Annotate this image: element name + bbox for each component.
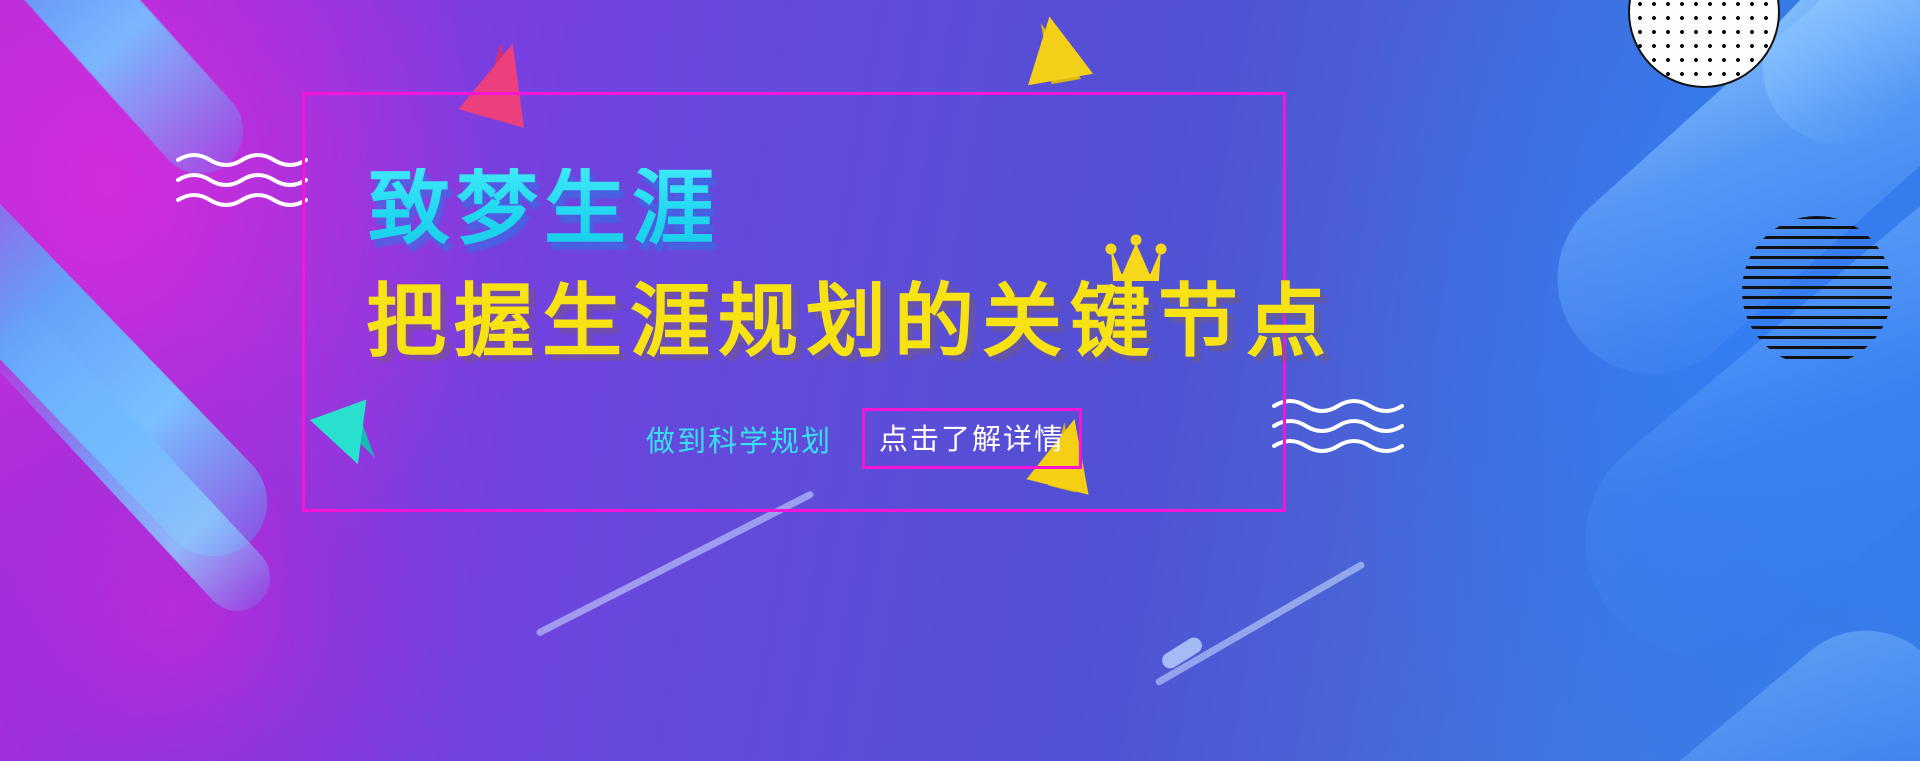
banner-content: 致梦生涯 致梦生涯 把握生涯规划的关键节点 把握生涯规划的关键节点 做到科学规划… xyxy=(0,0,1920,761)
sub-line: 做到科学规划 点击了解详情 xyxy=(646,408,1082,469)
cta-button[interactable]: 点击了解详情 xyxy=(862,408,1082,469)
crown-icon xyxy=(1105,234,1167,282)
main-title: 致梦生涯 xyxy=(368,168,720,250)
headline: 把握生涯规划的关键节点 xyxy=(366,282,1334,362)
promo-banner: 致梦生涯 致梦生涯 把握生涯规划的关键节点 把握生涯规划的关键节点 做到科学规划… xyxy=(0,0,1920,761)
sub-text: 做到科学规划 xyxy=(646,418,832,460)
